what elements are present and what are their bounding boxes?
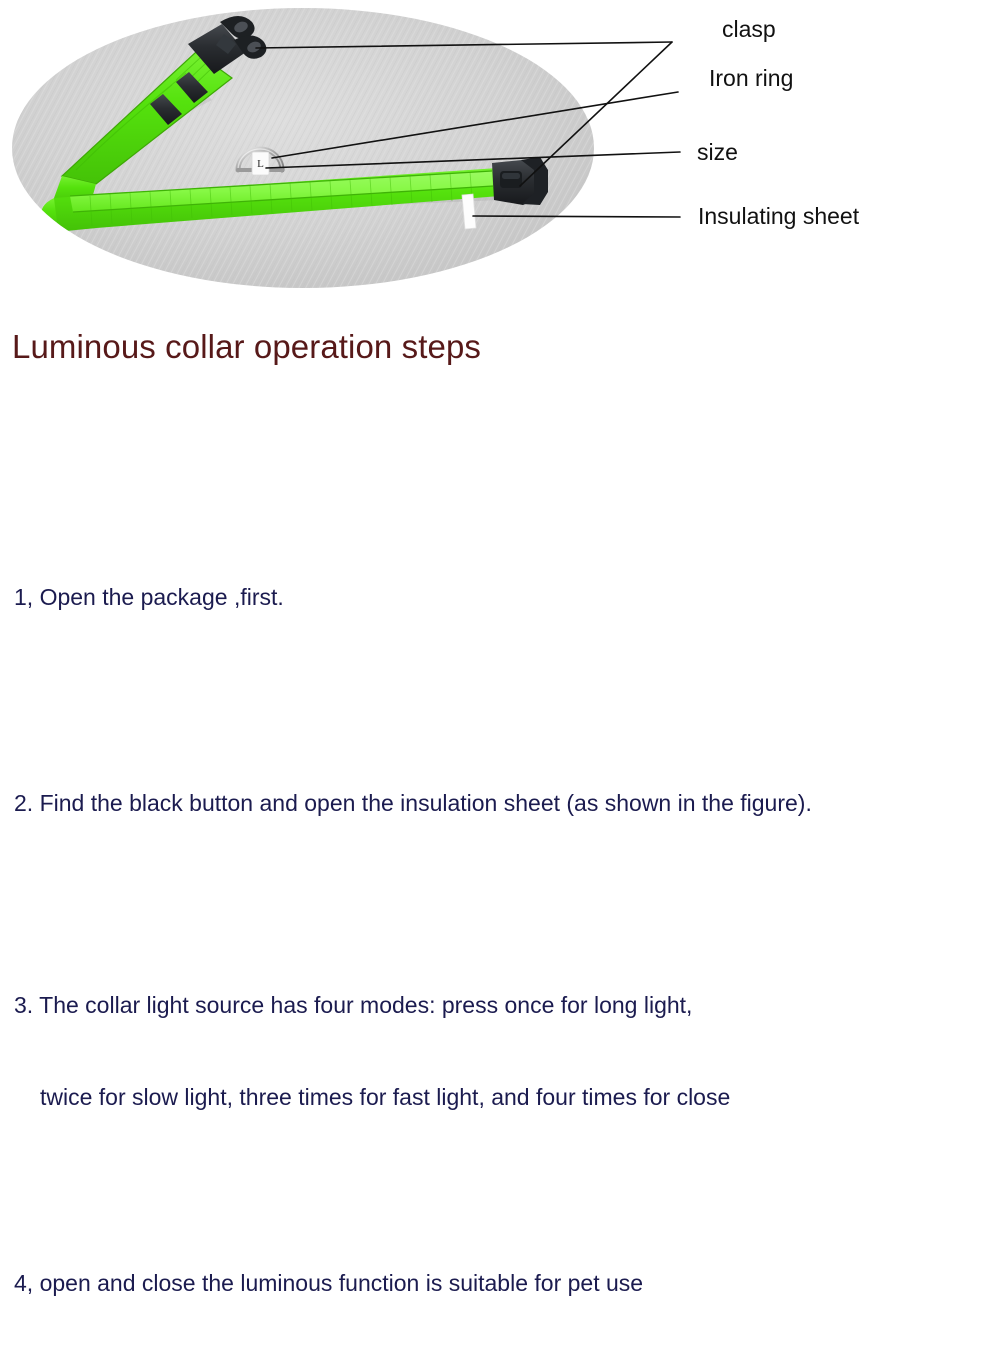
- step-3-line-1: 3. The collar light source has four mode…: [14, 990, 974, 1021]
- step-item-4: 4, open and close the luminous function …: [14, 1207, 974, 1361]
- callout-label-size: size: [697, 141, 738, 164]
- page-title: Luminous collar operation steps: [12, 328, 481, 366]
- step-item-3: 3. The collar light source has four mode…: [14, 928, 974, 1175]
- step-4-line-1: 4, open and close the luminous function …: [14, 1268, 974, 1299]
- step-3-line-2: twice for slow light, three times for fa…: [14, 1082, 974, 1113]
- step-2-line-1: 2. Find the black button and open the in…: [14, 788, 974, 819]
- callout-label-clasp: clasp: [722, 18, 776, 41]
- product-figure: L cl: [0, 0, 1000, 310]
- product-photo-illustration: L: [0, 0, 1000, 310]
- operation-steps-list: 1, Open the package ,first. 2. Find the …: [14, 520, 974, 1361]
- leader-line-insulating-sheet: [473, 216, 680, 217]
- size-tag-letter: L: [257, 158, 264, 170]
- callout-label-iron-ring: Iron ring: [709, 67, 793, 90]
- size-tag: L: [252, 152, 269, 175]
- step-1-line-1: 1, Open the package ,first.: [14, 582, 974, 613]
- female-buckle-with-button: [492, 157, 548, 205]
- callout-label-insulating-sheet: Insulating sheet: [698, 205, 859, 228]
- step-item-2: 2. Find the black button and open the in…: [14, 726, 974, 880]
- step-item-1: 1, Open the package ,first.: [14, 520, 974, 674]
